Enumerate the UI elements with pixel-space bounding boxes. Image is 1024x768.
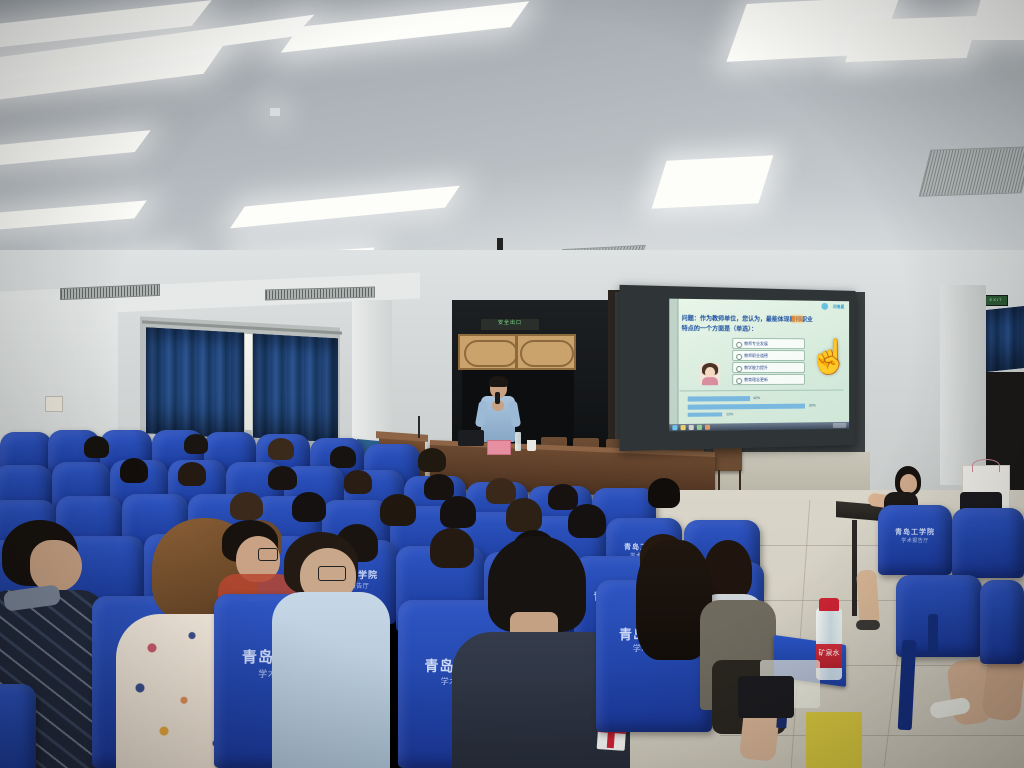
laptop-on-table bbox=[458, 430, 484, 446]
lecture-hall-photo: 安全出口 问卷星 bbox=[0, 0, 1024, 768]
curtain-left-panel bbox=[146, 327, 244, 438]
audience-hair bbox=[440, 496, 476, 528]
chair-leg bbox=[718, 470, 720, 492]
man-blue-shirt-body bbox=[272, 592, 390, 768]
bag-handle bbox=[972, 459, 1000, 472]
audience-hair bbox=[268, 466, 297, 490]
seat-armrest bbox=[928, 614, 938, 656]
audience-hair bbox=[380, 494, 416, 526]
slide-content: 问卷星 问题：作为教师单位，您认为，最能体现教师职业 特点的一个方面是（单选）：… bbox=[669, 299, 849, 432]
exit-sign: 安全出口 bbox=[480, 318, 540, 331]
side-person-head bbox=[900, 474, 917, 493]
seat-logo-line1: 青岛工学院 bbox=[878, 527, 952, 537]
eyeglasses-icon bbox=[258, 548, 278, 561]
mic-stand-icon bbox=[418, 416, 420, 438]
lattice-pattern bbox=[520, 340, 574, 367]
slide-question-highlight: 职业 bbox=[791, 314, 803, 323]
slide-question-line2: 特点的一个方面是（单选）： bbox=[682, 323, 757, 333]
audience-hair bbox=[330, 446, 356, 468]
slide-logo: 问卷星 bbox=[833, 304, 844, 310]
audience-hair bbox=[120, 458, 148, 483]
name-card bbox=[487, 440, 511, 455]
result-bar bbox=[688, 396, 750, 402]
seat[interactable] bbox=[952, 508, 1024, 578]
curtain-right-panel bbox=[253, 334, 338, 443]
side-desk-leg bbox=[852, 520, 857, 616]
water-bottle-on-table bbox=[515, 432, 521, 451]
option-label: 教师职业道德 bbox=[744, 352, 768, 358]
taskbar-icon[interactable] bbox=[689, 425, 694, 430]
dark-bag-on-seat bbox=[738, 676, 794, 718]
result-bar bbox=[688, 412, 722, 416]
audience-hair bbox=[418, 448, 446, 472]
ceiling-air-vent bbox=[919, 146, 1024, 197]
seat[interactable]: 青岛工学院 学术报告厅 bbox=[878, 505, 952, 575]
curtain-right-wall bbox=[985, 306, 1024, 372]
radio-icon[interactable] bbox=[736, 354, 742, 360]
audience-hair bbox=[178, 462, 206, 486]
slide-option-d[interactable]: 教育理念更新 bbox=[732, 374, 805, 385]
result-bar-label: 30% bbox=[809, 404, 816, 408]
right-wall-column bbox=[940, 285, 986, 485]
audience-hair bbox=[344, 470, 372, 494]
audience-hair bbox=[424, 474, 454, 500]
taskbar-icon[interactable] bbox=[697, 425, 702, 430]
eyeglasses-icon bbox=[318, 566, 346, 581]
result-bar bbox=[688, 404, 805, 410]
audience-hair bbox=[548, 484, 578, 510]
option-label: 教学能力提升 bbox=[744, 364, 768, 370]
paper-cup bbox=[527, 440, 536, 451]
water-bottle-label-text: 矿泉水 bbox=[817, 648, 841, 658]
result-bar-label: 42% bbox=[753, 396, 760, 400]
option-label: 教师专业发展 bbox=[744, 340, 768, 346]
seat[interactable] bbox=[0, 684, 36, 768]
audience-hair bbox=[292, 492, 326, 522]
slide-option-c[interactable]: 教学能力提升 bbox=[732, 362, 805, 373]
slide-option-b[interactable]: 教师职业道德 bbox=[732, 350, 805, 361]
seat[interactable] bbox=[980, 580, 1024, 664]
taskbar-icon[interactable] bbox=[705, 425, 710, 430]
audience-hair bbox=[486, 478, 516, 504]
aisle-person-leg bbox=[856, 569, 880, 626]
seat-logo: 青岛工学院 学术报告厅 bbox=[878, 527, 952, 544]
ceiling-light-panel bbox=[845, 16, 978, 62]
chair-leg bbox=[739, 470, 741, 492]
ceiling-light-panel bbox=[652, 155, 774, 208]
ceiling-light-panel bbox=[270, 108, 280, 116]
slide-avatar bbox=[700, 363, 720, 385]
foreground-man-left-head bbox=[30, 540, 82, 592]
yellow-bag bbox=[806, 712, 862, 768]
sandal-icon bbox=[856, 620, 880, 630]
radio-icon[interactable] bbox=[736, 342, 742, 348]
avatar-body bbox=[702, 377, 718, 385]
lattice-pattern bbox=[464, 340, 518, 367]
exit-sign-text: 安全出口 bbox=[481, 319, 539, 328]
slide-left-sidebar bbox=[669, 299, 678, 432]
seat-logo-line2: 学术报告厅 bbox=[878, 537, 952, 544]
audience-hair bbox=[648, 478, 680, 508]
microphone-icon bbox=[495, 392, 500, 404]
results-divider bbox=[680, 390, 844, 392]
radio-icon[interactable] bbox=[736, 366, 742, 372]
taskbar-icon[interactable] bbox=[672, 425, 677, 430]
audience-hair bbox=[184, 434, 208, 454]
pointing-hand-cursor-icon: ☝ bbox=[809, 340, 849, 374]
audience-hair bbox=[506, 498, 542, 532]
option-label: 教育理念更新 bbox=[744, 376, 768, 382]
audience-hair bbox=[430, 528, 474, 568]
exit-sign-right: EXIT bbox=[984, 295, 1008, 306]
exit-sign-right-text: EXIT bbox=[985, 296, 1007, 304]
radio-icon[interactable] bbox=[736, 378, 742, 384]
audience-hair bbox=[568, 504, 606, 538]
window-daylight-gap bbox=[245, 334, 252, 430]
speaker-hair bbox=[489, 376, 508, 387]
audience-hair bbox=[84, 436, 109, 458]
lattice-divider bbox=[515, 334, 518, 370]
projection-screen-surface[interactable]: 问卷星 问题：作为教师单位，您认为，最能体现教师职业 特点的一个方面是（单选）：… bbox=[669, 299, 849, 432]
wall-fixture bbox=[45, 396, 63, 412]
taskbar-clock[interactable] bbox=[833, 423, 846, 428]
taskbar-icon[interactable] bbox=[681, 425, 686, 430]
result-bar-label: 12% bbox=[726, 412, 733, 416]
audience-hair bbox=[268, 438, 294, 460]
water-bottle-cap-icon bbox=[819, 598, 839, 611]
slide-option-a[interactable]: 教师专业发展 bbox=[732, 338, 805, 349]
audience-hair bbox=[230, 492, 263, 520]
slide-logo-icon bbox=[821, 303, 828, 310]
